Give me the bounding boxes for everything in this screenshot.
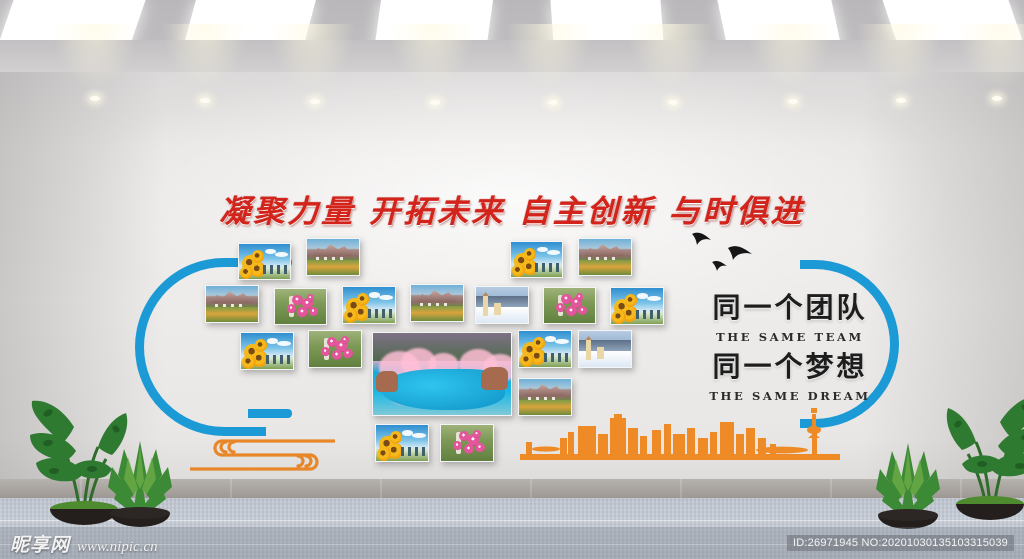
photo-frame	[375, 424, 429, 462]
mountain-village-photo-art	[579, 239, 631, 275]
site-logo: 昵享网	[10, 530, 70, 557]
ceiling-spotlight	[430, 100, 440, 105]
mountain-village-photo-art	[206, 286, 258, 322]
photo-frame	[543, 287, 596, 324]
photo-frame	[410, 284, 464, 322]
ceiling-spotlight	[200, 98, 210, 103]
winter-church-photo-art	[579, 331, 631, 367]
photo-frame	[308, 330, 362, 368]
pink-blossom-photo-art	[544, 288, 595, 323]
site-url: www.nipic.cn	[77, 539, 158, 556]
ceiling-shadow-gradient	[0, 40, 1024, 72]
slogan-en-dream: THE SAME DREAM	[690, 389, 890, 403]
plant-agave-left	[104, 435, 176, 538]
culture-wall-scene: 凝聚力量 开拓未来 自主创新 与时俱进 同一个团队 THE SAME TEAM …	[0, 0, 1024, 559]
ceiling-spotlight	[668, 100, 678, 105]
mountain-village-photo-art	[411, 285, 463, 321]
sunflower-field-photo-art	[239, 244, 290, 279]
winter-church-photo-art	[476, 287, 528, 323]
ceiling-spotlight	[896, 98, 906, 103]
sunflower-field-photo-art	[343, 287, 395, 323]
slogan-block-dream: 同一个梦想 THE SAME DREAM	[690, 345, 890, 403]
photo-frame	[205, 285, 259, 323]
photo-frame	[578, 330, 632, 368]
photo-frame	[475, 286, 529, 324]
photo-frame	[240, 332, 294, 370]
sunflower-field-photo-art	[519, 331, 571, 367]
ceiling-spotlight	[548, 100, 558, 105]
skirting-seam	[830, 479, 832, 498]
pink-blossom-photo-art	[275, 289, 326, 324]
pink-blossom-photo-art	[309, 331, 361, 367]
sunflower-field-photo-art	[611, 288, 663, 324]
skirting-seam	[380, 479, 382, 498]
scroll-ornament-icon	[190, 428, 335, 474]
plant-monstera-right	[928, 380, 1024, 530]
blue-lake-cherry-blossom-photo-art	[373, 333, 511, 415]
ceiling-spotlight	[788, 99, 798, 104]
sunflower-field-photo-art	[241, 333, 293, 369]
photo-frame	[306, 238, 360, 276]
watermark-bar: 昵享网 www.nipic.cn ID:26971945 NO:20201030…	[0, 527, 1024, 559]
slogan-en-team: THE SAME TEAM	[690, 330, 890, 344]
mountain-village-photo-art	[307, 239, 359, 275]
photo-frame	[578, 238, 632, 276]
skirting-seam	[230, 479, 232, 498]
photo-frame	[372, 332, 512, 416]
skirting-seam	[680, 479, 682, 498]
city-skyline-icon	[520, 408, 840, 468]
pink-blossom-photo-art	[441, 425, 493, 461]
slogan-cn-dream: 同一个梦想	[690, 345, 890, 385]
decoration-arc-left-bottom-cap	[248, 409, 292, 418]
ceiling	[0, 0, 1024, 72]
sunflower-field-photo-art	[511, 242, 562, 277]
photo-frame	[274, 288, 327, 325]
slogan-block-team: 同一个团队 THE SAME TEAM	[690, 286, 890, 344]
photo-frame	[518, 330, 572, 368]
wall-vignette	[0, 72, 1024, 487]
ceiling-spotlight	[310, 99, 320, 104]
photo-frame	[342, 286, 396, 324]
photo-frame	[440, 424, 494, 462]
asset-id-label: ID:26971945 NO:20201030135103315039	[787, 535, 1014, 551]
skirting-seam	[530, 479, 532, 498]
ceiling-spotlight	[90, 96, 100, 101]
watermark-brand: 昵享网 www.nipic.cn	[10, 530, 158, 557]
ceiling-spotlight	[992, 96, 1002, 101]
page-title: 凝聚力量 开拓未来 自主创新 与时俱进	[0, 186, 1024, 231]
photo-frame	[510, 241, 563, 278]
photo-frame	[238, 243, 291, 280]
back-wall	[0, 72, 1024, 487]
flying-birds-icon	[680, 226, 800, 282]
photo-frame	[610, 287, 664, 325]
slogan-cn-team: 同一个团队	[690, 286, 890, 326]
sunflower-field-photo-art	[376, 425, 428, 461]
